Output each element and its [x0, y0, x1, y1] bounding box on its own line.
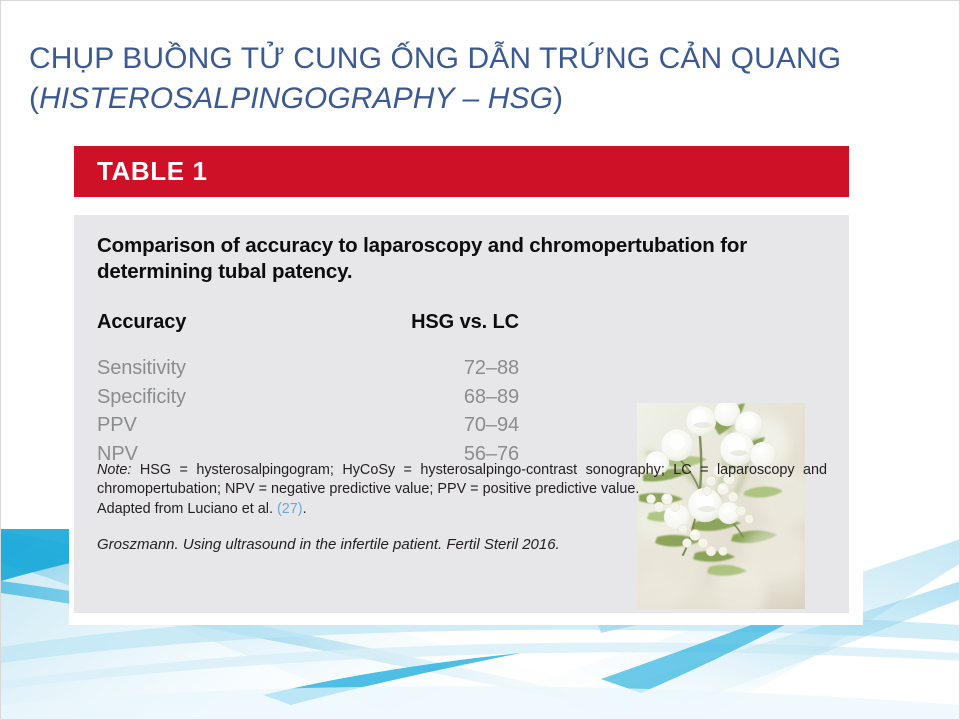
- table-row: PPV 70–94: [97, 411, 527, 440]
- title-line-2-italic: HISTEROSALPINGOGRAPHY – HSG: [39, 82, 553, 115]
- note-paragraph: Note: HSG = hysterosalpingogram; HyCoSy …: [97, 461, 827, 500]
- adapted-prefix: Adapted from Luciano et al.: [97, 501, 277, 517]
- slide-title: CHỤP BUỒNG TỬ CUNG ỐNG DẪN TRỨNG CẢN QUA…: [29, 39, 929, 118]
- table-number-label: TABLE 1: [97, 156, 208, 187]
- row-value-sensitivity: 72–88: [367, 354, 527, 383]
- column-header-hsg-vs-lc: HSG vs. LC: [367, 311, 527, 334]
- source-citation: Groszmann. Using ultrasound in the infer…: [97, 535, 827, 555]
- table-body: Comparison of accuracy to laparoscopy an…: [74, 215, 849, 613]
- adapted-suffix: .: [303, 501, 307, 517]
- table-footnotes: Note: HSG = hysterosalpingogram; HyCoSy …: [97, 461, 827, 555]
- table-row: Specificity 68–89: [97, 383, 527, 412]
- slide-canvas: CHỤP BUỒNG TỬ CUNG ỐNG DẪN TRỨNG CẢN QUA…: [0, 0, 960, 720]
- title-paren-close: ): [553, 82, 563, 115]
- table-header-row: Accuracy HSG vs. LC: [97, 311, 527, 334]
- table-header-bar: TABLE 1: [74, 146, 849, 197]
- row-value-ppv: 70–94: [367, 411, 527, 440]
- column-header-accuracy: Accuracy: [97, 311, 367, 334]
- row-label-sensitivity: Sensitivity: [97, 354, 367, 383]
- title-line-1: CHỤP BUỒNG TỬ CUNG ỐNG DẪN TRỨNG CẢN QUA…: [29, 42, 841, 75]
- row-label-ppv: PPV: [97, 411, 367, 440]
- accuracy-table: Accuracy HSG vs. LC Sensitivity 72–88 Sp…: [97, 311, 527, 468]
- table-caption: Comparison of accuracy to laparoscopy an…: [97, 233, 817, 285]
- adapted-paragraph: Adapted from Luciano et al. (27).: [97, 500, 827, 519]
- table-figure-card: TABLE 1 Comparison of accuracy to laparo…: [69, 141, 863, 625]
- note-text: HSG = hysterosalpingogram; HyCoSy = hyst…: [97, 462, 827, 497]
- row-value-specificity: 68–89: [367, 383, 527, 412]
- table-row: Sensitivity 72–88: [97, 354, 527, 383]
- row-label-specificity: Specificity: [97, 383, 367, 412]
- title-paren-open: (: [29, 82, 39, 115]
- note-label: Note:: [97, 462, 131, 478]
- reference-link-27[interactable]: (27): [277, 501, 303, 517]
